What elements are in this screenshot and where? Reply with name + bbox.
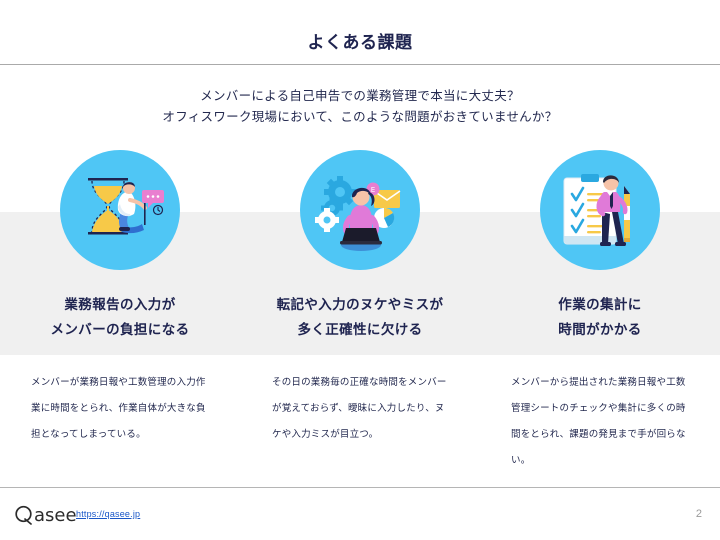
subtitle-line-2: オフィスワーク現場において、このような問題がおきていませんか？ [0, 107, 720, 128]
column-3: 作業の集計に 時間がかかる メンバーから提出された業務日報や工数管理シートのチェ… [480, 150, 720, 474]
qasee-logo-text: asee [34, 505, 77, 526]
column-2-heading-line-2: 多く正確性に欠ける [277, 317, 444, 342]
column-1: 業務報告の入力が メンバーの負担になる メンバーが業務日報や工数管理の入力作業に… [0, 150, 240, 474]
slide: よくある課題 メンバーによる自己申告での業務管理で本当に大丈夫？ オフィスワーク… [0, 0, 720, 540]
column-1-heading-line-2: メンバーの負担になる [51, 317, 190, 342]
column-3-body: メンバーから提出された業務日報や工数管理シートのチェックや集計に多くの時間をとら… [511, 370, 689, 474]
site-url-link[interactable]: https://qasee.jp [76, 509, 140, 519]
checklist-clipboard-person-illustration [540, 150, 660, 270]
subtitle-line-1: メンバーによる自己申告での業務管理で本当に大丈夫？ [0, 86, 720, 107]
subtitle-block: メンバーによる自己申告での業務管理で本当に大丈夫？ オフィスワーク現場において、… [0, 86, 720, 128]
page-number: 2 [696, 508, 702, 520]
column-3-heading-line-2: 時間がかかる [558, 317, 641, 342]
column-2-heading: 転記や入力のヌケやミスが 多く正確性に欠ける [277, 292, 444, 342]
qasee-q-mark-icon [14, 505, 34, 525]
header-divider [0, 64, 720, 65]
columns-container: 業務報告の入力が メンバーの負担になる メンバーが業務日報や工数管理の入力作業に… [0, 150, 720, 474]
column-1-heading: 業務報告の入力が メンバーの負担になる [51, 292, 190, 342]
laptop-person-gears-illustration: E [300, 150, 420, 270]
column-1-heading-line-1: 業務報告の入力が [51, 292, 190, 317]
column-2-heading-line-1: 転記や入力のヌケやミスが [277, 292, 444, 317]
column-3-heading: 作業の集計に 時間がかかる [558, 292, 641, 342]
column-3-heading-line-1: 作業の集計に [558, 292, 641, 317]
hourglass-person-illustration [60, 150, 180, 270]
column-2: E [240, 150, 480, 474]
svg-text:E: E [371, 186, 375, 194]
column-2-body: その日の業務毎の正確な時間をメンバーが覚えておらず、曖昧に入力したり、ヌケや入力… [272, 370, 448, 448]
page-title: よくある課題 [0, 28, 720, 53]
footer-divider [0, 487, 720, 488]
qasee-logo: asee [14, 503, 77, 527]
column-1-body: メンバーが業務日報や工数管理の入力作業に時間をとられ、作業自体が大きな負担となっ… [31, 370, 209, 448]
